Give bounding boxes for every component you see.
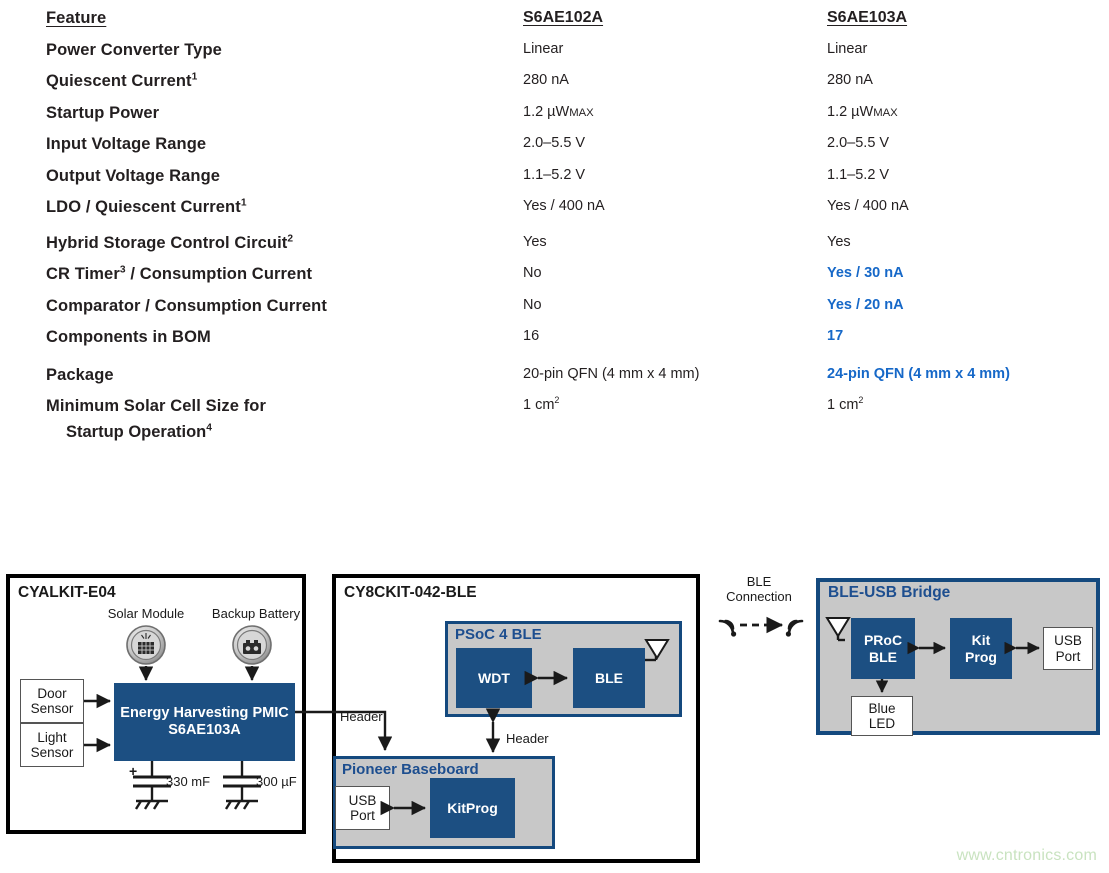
cap1-value-label: 330 mF (166, 775, 210, 790)
value-s6ae102a: 20-pin QFN (4 mm x 4 mm) (523, 367, 699, 382)
feature-label: Input Voltage Range (46, 136, 206, 153)
value-s6ae103a: 1.2 µWMAX (827, 105, 898, 120)
bridge-usb-port-box: USB Port (1043, 627, 1093, 670)
panel-ble-usb-bridge-title: BLE-USB Bridge (828, 584, 950, 602)
table-row: Hybrid Storage Control Circuit2YesYes (0, 235, 1109, 265)
column-header-s6ae103a: S6AE103A (827, 10, 907, 26)
value-s6ae102a: 280 nA (523, 73, 569, 88)
feature-label: Power Converter Type (46, 42, 222, 59)
feature-label: Minimum Solar Cell Size for (46, 398, 266, 415)
value-s6ae103a: 280 nA (827, 73, 873, 88)
feature-label: Comparator / Consumption Current (46, 298, 327, 315)
value-s6ae103a: Yes / 20 nA (827, 298, 904, 313)
value-s6ae103a: 17 (827, 329, 843, 344)
value-s6ae102a: No (523, 298, 542, 313)
value-s6ae102a: Linear (523, 42, 563, 57)
value-s6ae102a: No (523, 266, 542, 281)
solar-module-label: Solar Module (98, 607, 194, 622)
column-header-s6ae102a: S6AE102A (523, 10, 603, 26)
psoc4-ble-group-title: PSoC 4 BLE (455, 626, 542, 643)
wdt-block: WDT (456, 648, 532, 708)
value-s6ae103a: Yes (827, 235, 851, 250)
header-left-label: Header (340, 710, 383, 725)
table-header-row: FeatureS6AE102AS6AE103A (0, 10, 1109, 40)
feature-comparison-table: FeatureS6AE102AS6AE103APower Converter T… (0, 0, 1109, 560)
value-s6ae102a: 1.1–5.2 V (523, 168, 585, 183)
table-row: LDO / Quiescent Current1Yes / 400 nAYes … (0, 199, 1109, 229)
table-row: Quiescent Current1280 nA280 nA (0, 73, 1109, 103)
value-s6ae103a: 1 cm2 (827, 398, 863, 413)
table-row: Comparator / Consumption CurrentNoYes / … (0, 298, 1109, 328)
panel-cy8ckit-042-ble-title: CY8CKIT-042-BLE (344, 584, 477, 602)
watermark: www.cntronics.com (957, 847, 1097, 865)
value-s6ae102a: Yes / 400 nA (523, 199, 605, 214)
light-sensor-box: Light Sensor (20, 723, 84, 767)
header-mid-label: Header (506, 732, 549, 747)
table-row: CR Timer3 / Consumption CurrentNoYes / 3… (0, 266, 1109, 296)
blue-led-box: Blue LED (851, 696, 913, 736)
feature-label: Output Voltage Range (46, 168, 220, 185)
column-header-feature: Feature (46, 10, 106, 27)
ble-connection-label: BLE Connection (716, 575, 802, 605)
feature-label-continued: Startup Operation4 (66, 424, 212, 441)
value-s6ae103a: 24-pin QFN (4 mm x 4 mm) (827, 367, 1010, 382)
kitprog-block: KitProg (430, 778, 515, 838)
feature-label: Components in BOM (46, 329, 211, 346)
feature-label: Hybrid Storage Control Circuit2 (46, 235, 293, 252)
ble-signal-left-icon (714, 616, 738, 640)
table-row: Package20-pin QFN (4 mm x 4 mm)24-pin QF… (0, 367, 1109, 397)
value-s6ae103a: 1.1–5.2 V (827, 168, 889, 183)
value-s6ae102a: 1.2 µWMAX (523, 105, 594, 120)
feature-label: LDO / Quiescent Current1 (46, 199, 247, 216)
feature-label: CR Timer3 / Consumption Current (46, 266, 312, 283)
value-s6ae102a: 16 (523, 329, 539, 344)
table-row: Input Voltage Range2.0–5.5 V2.0–5.5 V (0, 136, 1109, 166)
value-s6ae103a: Yes / 30 nA (827, 266, 904, 281)
panel-cyalkit-e04-title: CYALKIT-E04 (18, 584, 116, 602)
table-row-continuation: Startup Operation4 (0, 424, 1109, 454)
value-s6ae103a: Linear (827, 42, 867, 57)
table-row: Output Voltage Range1.1–5.2 V1.1–5.2 V (0, 168, 1109, 198)
value-s6ae103a: 2.0–5.5 V (827, 136, 889, 151)
table-row: Startup Power1.2 µWMAX1.2 µWMAX (0, 105, 1109, 135)
cap2-value-label: 300 µF (256, 775, 297, 790)
feature-label: Package (46, 367, 114, 384)
table-row: Power Converter TypeLinearLinear (0, 42, 1109, 72)
backup-battery-label: Backup Battery (204, 607, 308, 622)
value-s6ae103a: Yes / 400 nA (827, 199, 909, 214)
value-s6ae102a: Yes (523, 235, 547, 250)
pioneer-baseboard-group-title: Pioneer Baseboard (342, 761, 479, 778)
ble-signal-right-icon (784, 616, 808, 640)
baseboard-usb-port-box: USB Port (335, 786, 390, 830)
system-block-diagram: CYALKIT-E04 Solar Module Backup Battery (0, 560, 1109, 873)
feature-label: Startup Power (46, 105, 159, 122)
door-sensor-box: Door Sensor (20, 679, 84, 723)
table-row: Components in BOM1617 (0, 329, 1109, 359)
energy-harvesting-pmic-block: Energy Harvesting PMIC S6AE103A (114, 683, 295, 761)
ble-block: BLE (573, 648, 645, 708)
value-s6ae102a: 1 cm2 (523, 398, 559, 413)
value-s6ae102a: 2.0–5.5 V (523, 136, 585, 151)
cap1-polarity-label: + (129, 763, 137, 779)
bridge-kitprog-block: Kit Prog (950, 618, 1012, 679)
proc-ble-block: PRoC BLE (851, 618, 915, 679)
feature-label: Quiescent Current1 (46, 73, 197, 90)
